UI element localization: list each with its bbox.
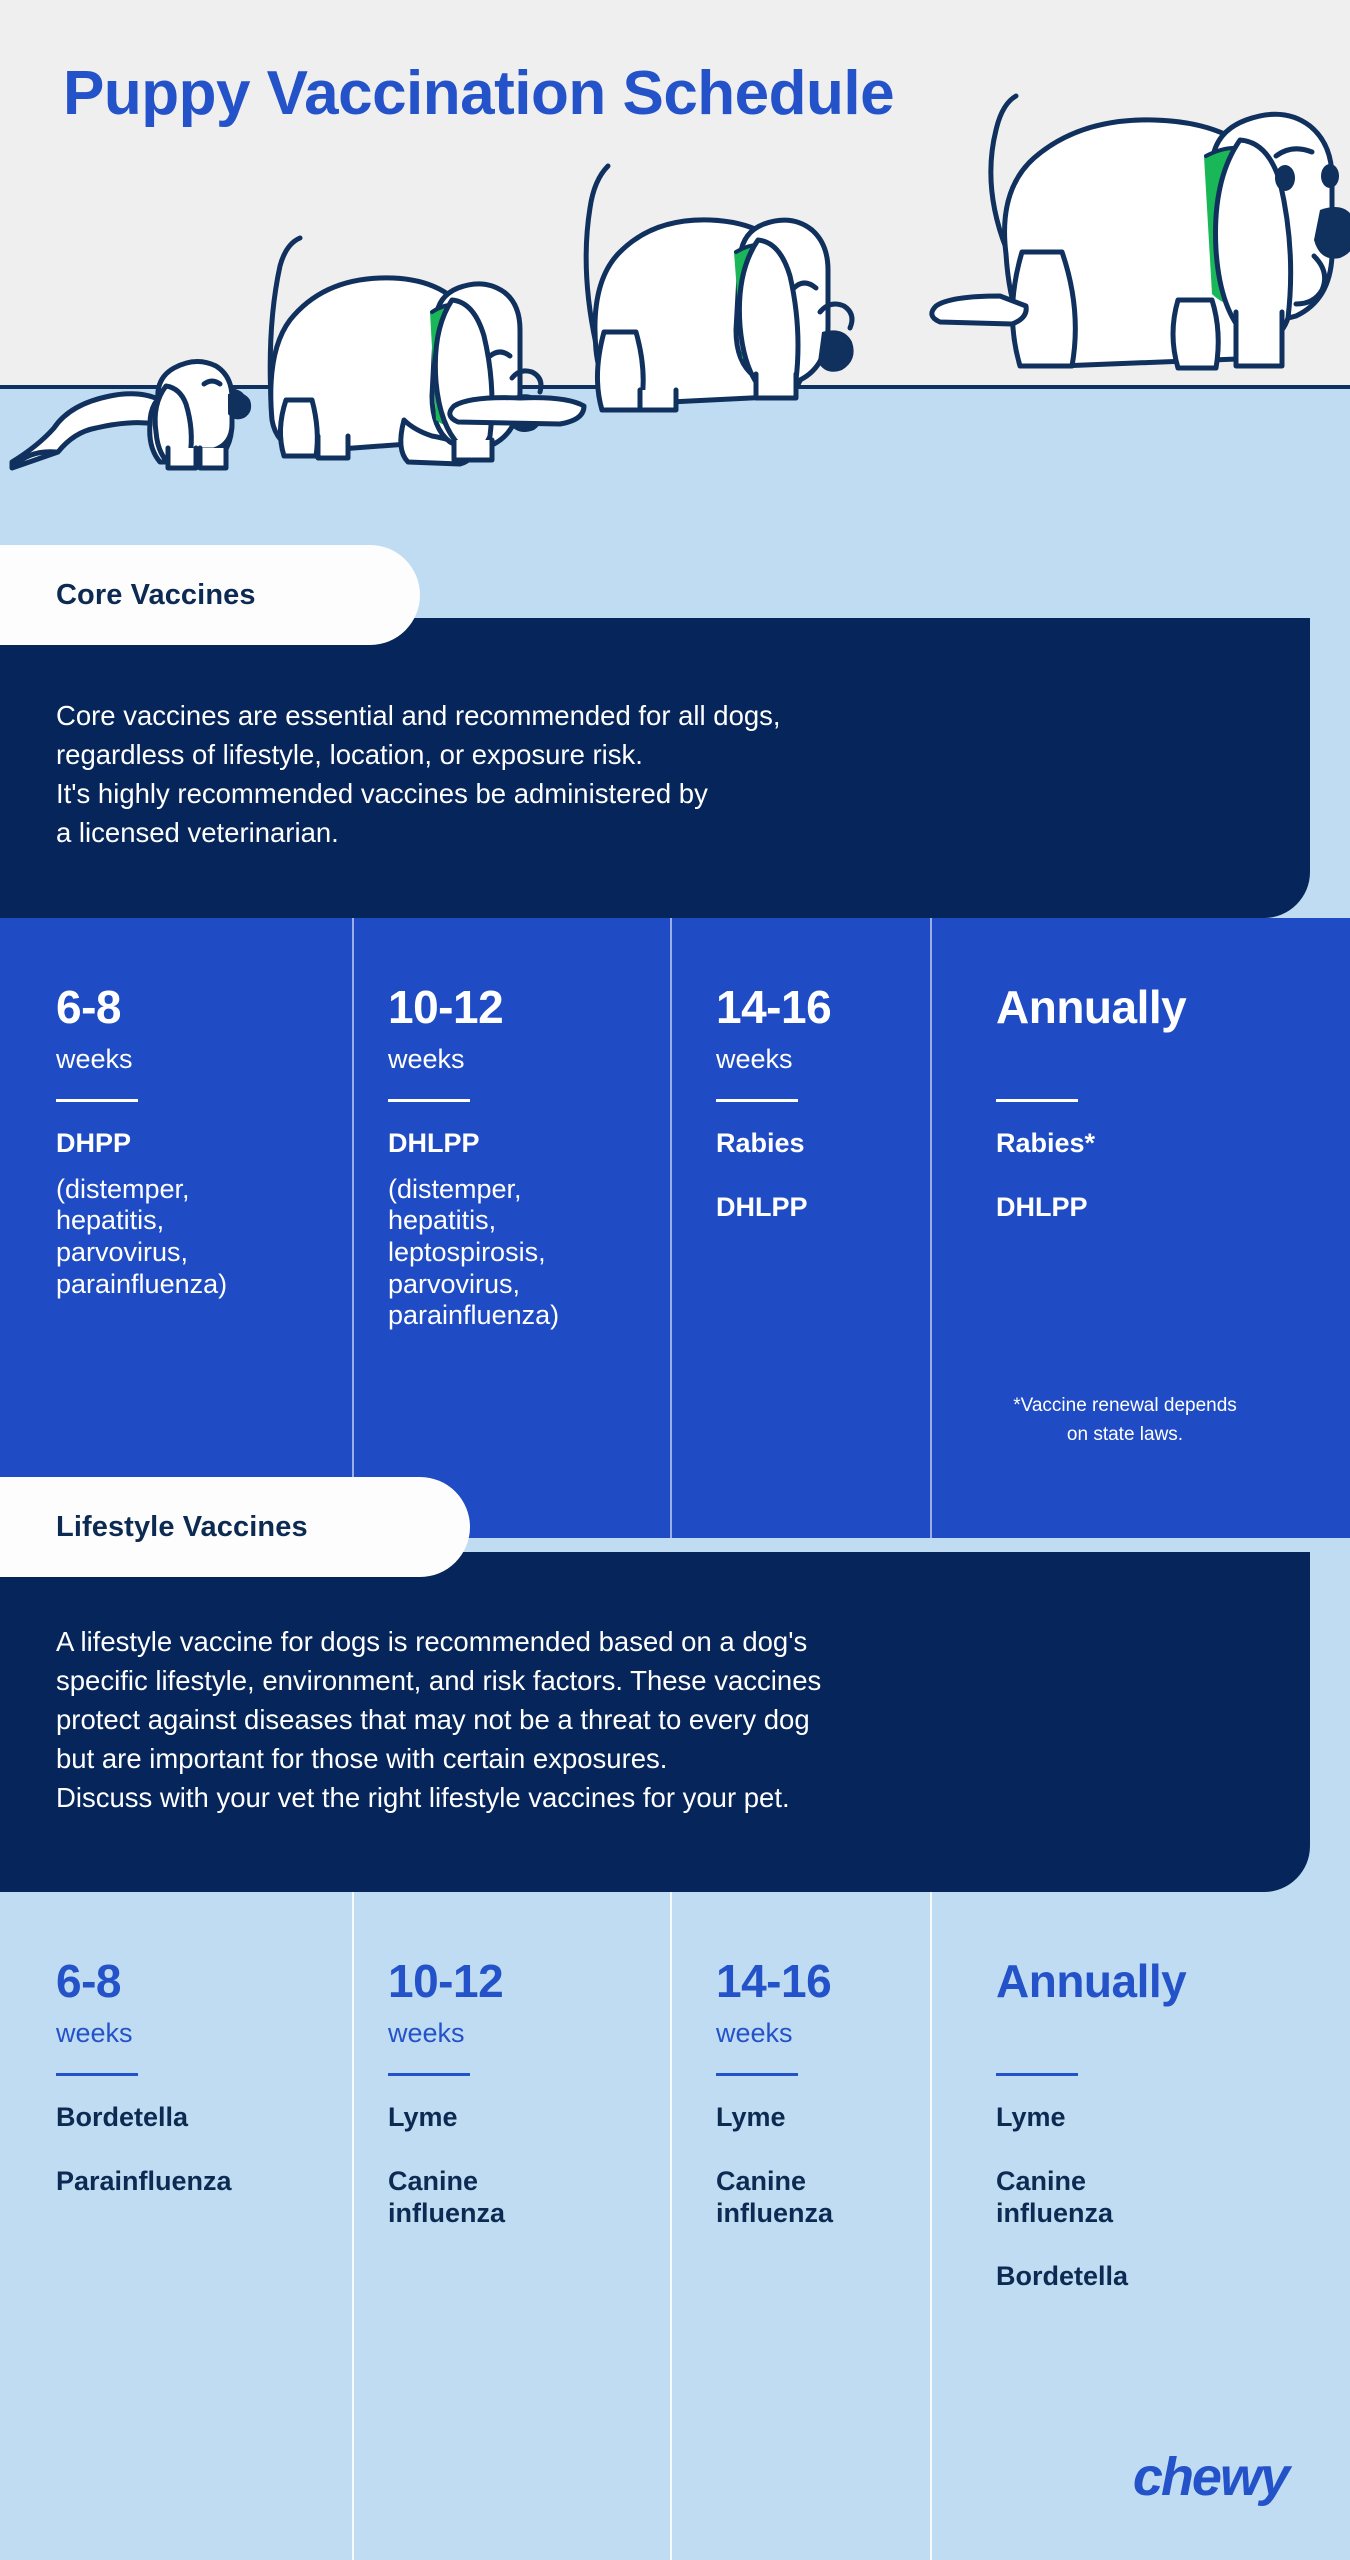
core-vaccines-footnote: *Vaccine renewal depends on state laws. [960, 1392, 1290, 1449]
lifestyle-unit-0: weeks [56, 2020, 232, 2047]
core-divider-2 [670, 918, 672, 1538]
core-vaccines-description: Core vaccines are essential and recommen… [56, 696, 781, 852]
lifestyle-rule-0 [56, 2073, 138, 2076]
lifestyle-divider-1 [352, 1892, 354, 2560]
lifestyle-vaccines-description: A lifestyle vaccine for dogs is recommen… [56, 1622, 1246, 1817]
lifestyle-rule-1 [388, 2073, 470, 2076]
core-vaccines-card: Core vaccines are essential and recommen… [0, 618, 1310, 918]
lifestyle-rule-2 [716, 2073, 798, 2076]
lifestyle-vaccine-1: Lyme Canine influenza [388, 2102, 505, 2229]
lifestyle-unit-2: weeks [716, 2020, 833, 2047]
lifestyle-divider-3 [930, 1892, 932, 2560]
infographic-page: Puppy Vaccination Schedule [0, 0, 1350, 2560]
lifestyle-vaccines-tab: Lifestyle Vaccines [0, 1477, 470, 1577]
lifestyle-age-2: 14-16 [716, 1958, 833, 2004]
lifestyle-vaccine-2: Lyme Canine influenza [716, 2102, 833, 2229]
core-vaccines-table: 6-8 weeks DHPP (distemper, hepatitis, pa… [0, 918, 1350, 1538]
core-vaccine-2: Rabies DHLPP [716, 1128, 831, 1224]
lifestyle-divider-2 [670, 1892, 672, 2560]
lifestyle-vaccines-tab-label: Lifestyle Vaccines [56, 1511, 308, 1544]
core-divider-3 [930, 918, 932, 1538]
core-detail-0: (distemper, hepatitis, parvovirus, parai… [56, 1174, 227, 1300]
core-vaccine-1: DHLPP [388, 1128, 559, 1160]
lifestyle-age-0: 6-8 [56, 1958, 232, 2004]
lifestyle-unit-3 [996, 2020, 1186, 2047]
core-rule-2 [716, 1099, 798, 1102]
core-age-1: 10-12 [388, 984, 559, 1030]
page-title: Puppy Vaccination Schedule [63, 58, 894, 129]
core-rule-1 [388, 1099, 470, 1102]
core-vaccine-3: Rabies* DHLPP [996, 1128, 1186, 1224]
core-rule-3 [996, 1099, 1078, 1102]
lifestyle-vaccine-0: Bordetella Parainfluenza [56, 2102, 232, 2198]
core-unit-1: weeks [388, 1046, 559, 1073]
lifestyle-age-3: Annually [996, 1958, 1186, 2004]
core-unit-2: weeks [716, 1046, 831, 1073]
lifestyle-rule-3 [996, 2073, 1078, 2076]
core-rule-0 [56, 1099, 138, 1102]
core-vaccine-0: DHPP [56, 1128, 227, 1160]
core-age-0: 6-8 [56, 984, 227, 1030]
lifestyle-vaccines-card: A lifestyle vaccine for dogs is recommen… [0, 1552, 1310, 1892]
core-vaccines-tab-label: Core Vaccines [56, 579, 256, 612]
core-age-3: Annually [996, 984, 1186, 1030]
chewy-logo: chewy [1133, 2446, 1288, 2508]
hero-banner: Puppy Vaccination Schedule [0, 0, 1350, 388]
core-divider-1 [352, 918, 354, 1538]
core-detail-1: (distemper, hepatitis, leptospirosis, pa… [388, 1174, 559, 1332]
lifestyle-age-1: 10-12 [388, 1958, 505, 2004]
lifestyle-unit-1: weeks [388, 2020, 505, 2047]
floor-band [0, 385, 1350, 495]
core-vaccines-tab: Core Vaccines [0, 545, 420, 645]
lifestyle-vaccine-3: Lyme Canine influenza Bordetella [996, 2102, 1186, 2293]
core-unit-3 [996, 1046, 1186, 1073]
core-age-2: 14-16 [716, 984, 831, 1030]
core-unit-0: weeks [56, 1046, 227, 1073]
